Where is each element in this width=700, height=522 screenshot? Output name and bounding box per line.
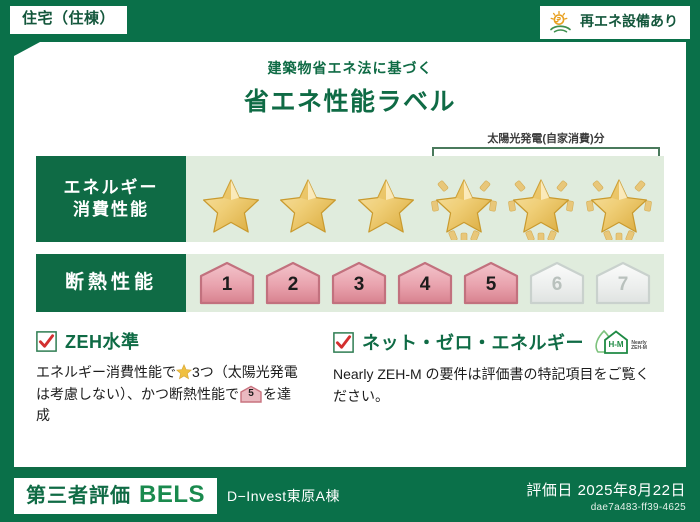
sun-icon [548, 10, 574, 34]
net-zero-energy-title: ネット・ゼロ・エネルギー [362, 329, 584, 355]
star-6 [586, 176, 652, 240]
star-glyph [275, 176, 341, 240]
insulation-performance-label-box: 断熱性能 [36, 254, 186, 312]
house-type-tag: 住宅（住棟） [10, 6, 127, 34]
net-zero-energy-block: ネット・ゼロ・エネルギー H-M Nearly ZEH-M Nearly ZEH… [315, 328, 664, 458]
renewable-equipment-label: 再エネ設備あり [580, 13, 678, 31]
star-icon [176, 364, 192, 380]
zeh-standard-heading: ZEH水準 [36, 328, 301, 354]
net-zero-energy-heading: ネット・ゼロ・エネルギー H-M Nearly ZEH-M [333, 328, 650, 356]
building-name: D−Invest東原A棟 [227, 486, 340, 506]
insulation-level-6: 6 [528, 261, 586, 305]
star-3 [353, 176, 419, 240]
insulation-level-4: 4 [396, 261, 454, 305]
criteria-columns: ZEH水準 エネルギー消費性能で3つ（太陽光発電は考慮しない）、かつ断熱性能で5… [36, 328, 664, 458]
star-glyph [508, 176, 574, 240]
bels-japanese-label: 第三者評価 [26, 484, 131, 508]
zeh-standard-title: ZEH水準 [65, 328, 140, 354]
label-subtitle: 建築物省エネ法に基づく [14, 58, 686, 78]
star-glyph [431, 176, 497, 240]
solar-portion-bracket [432, 147, 660, 156]
evaluation-date-label: 評価日 [526, 482, 573, 499]
energy-performance-label: 住宅（住棟） 再エネ設備あり 建築物省エネ法に基づく 省エネ性能ラベル [0, 0, 700, 522]
inline-insulation-badge: 5 [239, 385, 263, 403]
star-rating [186, 176, 664, 240]
solar-portion-annotation: 太陽光発電(自家消費)分 [432, 130, 660, 156]
bels-certification-badge: 第三者評価 BELS [14, 478, 217, 514]
zeh-text-part1: エネルギー消費性能で [36, 364, 176, 380]
insulation-label: 断熱性能 [65, 271, 157, 296]
evaluation-id: dae7a483-ff39-4625 [526, 502, 686, 513]
evaluation-info: 評価日 2025年8月22日 dae7a483-ff39-4625 [526, 479, 686, 513]
insulation-level-value: 3 [330, 275, 388, 294]
star-2 [275, 176, 341, 240]
evaluation-date: 評価日 2025年8月22日 [526, 479, 686, 500]
page-title: 省エネ性能ラベル [14, 82, 686, 118]
energy-performance-label-box: エネルギー 消費性能 [36, 156, 186, 242]
star-glyph [353, 176, 419, 240]
insulation-level-value: 1 [198, 275, 256, 294]
energy-label-line1: エネルギー [64, 177, 159, 199]
insulation-level-value: 6 [528, 275, 586, 294]
check-icon [333, 332, 354, 353]
solar-portion-label: 太陽光発電(自家消費)分 [432, 130, 660, 146]
energy-label-line2: 消費性能 [73, 199, 149, 221]
zeh-standard-block: ZEH水準 エネルギー消費性能で3つ（太陽光発電は考慮しない）、かつ断熱性能で5… [36, 328, 315, 458]
energy-performance-row: エネルギー 消費性能 太陽光発電(自家消費)分 [36, 156, 664, 242]
insulation-level-value: 4 [396, 275, 454, 294]
insulation-level-1: 1 [198, 261, 256, 305]
star-4 [431, 176, 497, 240]
insulation-level-value: 2 [264, 275, 322, 294]
label-card: 建築物省エネ法に基づく 省エネ性能ラベル エネルギー 消費性能 太陽光発電(自家… [14, 42, 686, 470]
insulation-level-7: 7 [594, 261, 652, 305]
insulation-performance-row: 断熱性能 [36, 254, 664, 312]
insulation-level-2: 2 [264, 261, 322, 305]
renewable-equipment-tag: 再エネ設備あり [540, 6, 690, 39]
insulation-level-value: 5 [462, 275, 520, 294]
insulation-badges-area: 1 2 [186, 254, 664, 312]
title-block: 建築物省エネ法に基づく 省エネ性能ラベル [14, 42, 686, 118]
evaluation-date-value: 2025年8月22日 [578, 482, 686, 499]
insulation-level-3: 3 [330, 261, 388, 305]
bels-logo-text: BELS [139, 481, 205, 510]
logo-house-text: H-M [608, 340, 623, 349]
star-5 [508, 176, 574, 240]
net-zero-energy-description: Nearly ZEH-M の要件は評価書の特記項目をご覧ください。 [333, 364, 650, 407]
star-glyph [586, 176, 652, 240]
insulation-level-5: 5 [462, 261, 520, 305]
insulation-level-scale: 1 2 [186, 254, 664, 312]
logo-caption-line2: ZEH-M [631, 345, 647, 351]
nearly-zeh-m-logo-icon: H-M Nearly ZEH-M [594, 328, 650, 356]
check-icon [36, 331, 57, 352]
energy-stars-area: 太陽光発電(自家消費)分 [186, 156, 664, 242]
inline-badge-value: 5 [239, 389, 263, 399]
zeh-standard-description: エネルギー消費性能で3つ（太陽光発電は考慮しない）、かつ断熱性能で5を達成 [36, 362, 301, 427]
star-glyph [198, 176, 264, 240]
insulation-level-value: 7 [594, 275, 652, 294]
footer-bar: 第三者評価 BELS D−Invest東原A棟 評価日 2025年8月22日 d… [0, 470, 700, 522]
star-1 [198, 176, 264, 240]
